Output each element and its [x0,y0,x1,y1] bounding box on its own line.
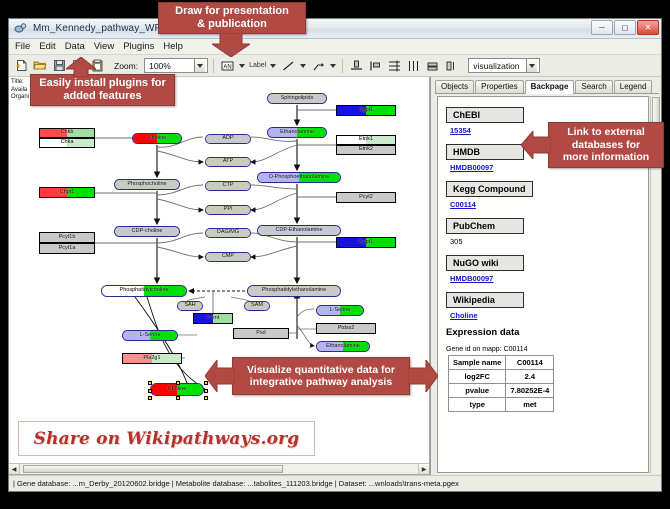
status-text: | Gene database: ...m_Derby_20120602.bri… [13,479,459,488]
node-label: Ptdss2 [338,326,355,332]
canvas-hscrollbar[interactable]: ◀ ▶ [9,463,429,474]
gene-node[interactable]: Chpt1 [39,187,95,198]
selection-handle[interactable] [148,396,152,400]
database-link[interactable]: HMDB00097 [450,274,648,283]
datanode-dropdown-icon[interactable] [238,59,246,73]
database-header: HMDB [446,144,524,160]
expression-row-label: pvalue [449,384,506,398]
node-label: Sgpl1 [359,108,373,114]
align-top-icon[interactable] [348,58,364,74]
database-header: Wikipedia [446,292,524,308]
tab-objects[interactable]: Objects [435,80,474,94]
node-label: CMP [222,254,234,260]
selection-handle[interactable] [176,396,180,400]
gene-node[interactable]: Psd [233,328,289,339]
node-label: Etnk2 [359,147,373,153]
menu-bar: File Edit Data View Plugins Help [9,39,661,55]
screenshot-root: Mm_Kennedy_pathway_WP1771_45176.gpml ─ ◻… [0,0,670,509]
node-label: CDP-Ethanolamine [275,228,322,234]
expression-row-value: 2.4 [506,370,554,384]
metabolite-node[interactable]: SAH [177,301,203,311]
window-controls: ─ ◻ ✕ [591,20,659,35]
callout-visualize-right-arrow-icon [408,360,438,392]
label-tool-label: Label [249,62,266,69]
metabolite-node[interactable]: O-Phosphoethanolamine [257,172,341,183]
node-label: Chpt1 [60,190,75,196]
database-link[interactable]: Choline [450,311,648,320]
node-label: SAM [251,303,263,309]
gene-node[interactable]: Pcyt1b [39,232,95,243]
node-label: Pemt [207,316,220,322]
node-label: Phosphatidylethanolamine [262,288,327,294]
callout-visualize-line2: integrative pathway analysis [250,376,392,388]
gene-id-line: Gene id on mapp: C00114 [446,346,648,353]
gene-node[interactable]: Cept1 [336,237,396,248]
app-icon [14,22,28,36]
menu-item-plugins[interactable]: Plugins [123,41,154,52]
tab-properties[interactable]: Properties [475,80,523,94]
metabolite-node[interactable]: L-Serine [316,305,364,316]
visualization-combo[interactable]: visualization [468,58,540,73]
metabolite-node[interactable]: Phosphatidylethanolamine [247,285,341,297]
toolbar-separator [213,59,214,73]
callout-visualize: Visualize quantitative data for integrat… [232,357,410,395]
metabolite-node[interactable]: SAM [244,301,270,311]
interaction-icon[interactable] [310,58,326,74]
distribute-vertical-icon[interactable] [386,58,402,74]
side-panel-tabs: Objects Properties Backpage Search Legen… [435,79,659,94]
menu-item-data[interactable]: Data [65,41,85,52]
callout-draw-line2: & publication [197,18,267,31]
metabolite-node[interactable]: CTP [205,181,251,191]
metabolite-node[interactable]: ADP [205,134,251,144]
metabolite-node[interactable]: Phosphatidylcholine [101,285,187,297]
metabolite-node[interactable]: CDP-choline [114,226,180,237]
line-dropdown-icon[interactable] [299,59,307,73]
callout-draw-arrow-icon [212,33,250,57]
zoom-combo[interactable]: 100% [144,58,208,73]
menu-item-view[interactable]: View [94,41,114,52]
visualization-chevron-down-icon[interactable] [526,59,537,72]
align-left-icon[interactable] [367,58,383,74]
node-label: L-Serine [330,308,351,314]
open-folder-icon[interactable] [32,58,48,74]
zoom-value: 100% [149,61,171,71]
hscroll-thumb[interactable] [23,465,283,473]
same-width-icon[interactable] [424,58,440,74]
node-label: Chka [61,140,74,146]
menu-item-file[interactable]: File [15,41,30,52]
database-header: PubChem [446,218,524,234]
database-header: NuGO wiki [446,255,524,271]
gene-node[interactable]: Pcyt2 [336,192,396,203]
gene-node[interactable]: Sgpl1 [336,105,396,116]
callout-plugins-line1: Easily install plugins for [39,77,166,90]
node-label: CTP [223,183,234,189]
callout-plugins-line2: added features [63,90,141,103]
node-label: ADP [222,136,233,142]
tab-backpage[interactable]: Backpage [525,80,575,95]
svg-text:AN: AN [223,64,231,70]
node-label: Pcyt1b [59,235,76,241]
callout-link-arrow-icon [521,131,551,159]
close-button[interactable]: ✕ [637,20,659,35]
callout-draw: Draw for presentation & publication [158,2,306,34]
toolbar-separator-2 [342,59,343,73]
callout-plugins: Easily install plugins for added feature… [30,74,175,106]
pathway-canvas[interactable]: Title: Availa Organi [9,77,430,475]
table-row: Sample nameC00114 [449,356,554,370]
scroll-right-icon[interactable]: ▶ [418,464,429,475]
table-row: typemet [449,398,554,412]
gene-node[interactable]: Ptdss2 [316,323,376,334]
label-dropdown-icon[interactable] [269,59,277,73]
gene-node[interactable]: Pemt [193,313,233,324]
node-label: PPi [224,207,233,213]
maximize-button[interactable]: ◻ [614,20,636,35]
expression-data-title: Expression data [446,327,648,338]
callout-link-line1: Link to external [567,126,645,139]
metabolite-node[interactable]: Sphingolipids [267,93,327,104]
node-label: Pcyt1a [59,246,76,252]
tab-legend[interactable]: Legend [614,80,653,94]
visualization-value: visualization [473,61,519,71]
scroll-left-icon[interactable]: ◀ [9,464,20,475]
datanode-icon[interactable]: AN [219,58,235,74]
callout-link-line3: more information [563,151,649,164]
chevron-down-icon[interactable] [194,59,205,72]
distribute-horizontal-icon[interactable] [405,58,421,74]
callout-link-line2: databases for [572,139,640,152]
metabolite-node[interactable]: Choline [132,133,182,144]
database-header: Kegg Compound [446,181,533,197]
node-label: Ethanolamine [280,130,314,136]
selection-handle[interactable] [148,389,152,393]
node-label: CDP-choline [132,229,163,235]
metabolite-node[interactable]: DAG/MG [205,228,251,238]
zoom-label: Zoom: [114,61,138,71]
node-label: SAH [184,303,195,309]
node-label: Phosphatidylcholine [120,288,169,294]
metabolite-node[interactable]: L-Serine [122,330,178,341]
node-label: Sphingolipids [281,96,314,102]
table-row: pvalue7.80252E-4 [449,384,554,398]
callout-visualize-left-arrow-icon [205,360,235,392]
node-label: Ethanolamine [326,344,360,350]
title-bar: Mm_Kennedy_pathway_WP1771_45176.gpml ─ ◻… [9,19,661,39]
metabolite-node[interactable]: Ethanolamine [267,127,327,138]
selection-handle[interactable] [148,381,152,385]
node-label: Chkb [61,130,74,136]
node-label: ATP [223,159,233,165]
database-header: ChEBI [446,107,524,123]
expression-row-value: 7.80252E-4 [506,384,554,398]
node-label: Pla2g1 [143,356,160,362]
expression-row-label: type [449,398,506,412]
gene-node[interactable]: Etnk2 [336,145,396,155]
expression-row-value: met [506,398,554,412]
table-row: log2FC2.4 [449,370,554,384]
node-label: Choline [148,136,167,142]
metabolite-node[interactable]: CMP [205,252,251,262]
node-label: Choline [168,387,187,393]
metabolite-node[interactable]: Ethanolamine [316,341,370,352]
metabolite-node[interactable]: PPi [205,205,251,215]
node-label: Phosphocholine [127,182,166,188]
metabolite-node[interactable]: CDP-Ethanolamine [257,225,341,236]
menu-item-help[interactable]: Help [163,41,183,52]
callout-plugins-arrow-icon [66,57,96,77]
metabolite-node[interactable]: Choline [150,383,204,396]
status-bar: | Gene database: ...m_Derby_20120602.bri… [9,475,661,491]
node-label: Cept1 [359,240,374,246]
callout-link-databases: Link to external databases for more info… [548,122,664,168]
metabolite-node[interactable]: Phosphocholine [114,179,180,190]
same-height-icon[interactable] [443,58,459,74]
database-link[interactable]: C00114 [450,200,648,209]
node-label: O-Phosphoethanolamine [269,175,330,181]
database-value: 305 [450,237,648,246]
expression-row-value: C00114 [506,356,554,370]
new-file-icon[interactable] [13,58,29,74]
interaction-dropdown-icon[interactable] [329,59,337,73]
node-label: Etnk1 [359,137,373,143]
callout-share: Share on Wikipathways.org [18,421,315,456]
node-label: DAG/MG [217,230,239,236]
expression-table: Sample nameC00114log2FC2.4pvalue7.80252E… [448,355,554,412]
node-label: Psd [256,331,265,337]
tab-search[interactable]: Search [575,80,612,94]
expression-row-label: Sample name [449,356,506,370]
line-icon[interactable] [280,58,296,74]
gene-node[interactable]: Chkb [39,128,95,138]
metabolite-node[interactable]: ATP [205,157,251,167]
expression-row-label: log2FC [449,370,506,384]
gene-node[interactable]: Chka [39,138,95,148]
callout-share-text: Share on Wikipathways.org [34,429,300,449]
save-icon[interactable] [51,58,67,74]
selection-handle[interactable] [176,381,180,385]
node-label: Pcyt2 [359,195,373,201]
node-label: L-Serine [140,333,161,339]
menu-item-edit[interactable]: Edit [39,41,55,52]
gene-node[interactable]: Etnk1 [336,135,396,145]
gene-node[interactable]: Pcyt1a [39,243,95,254]
selection-handle[interactable] [204,396,208,400]
minimize-button[interactable]: ─ [591,20,613,35]
gene-node[interactable]: Pla2g1 [122,353,182,364]
callout-visualize-line1: Visualize quantitative data for [247,364,395,376]
callout-draw-line1: Draw for presentation [175,5,289,18]
